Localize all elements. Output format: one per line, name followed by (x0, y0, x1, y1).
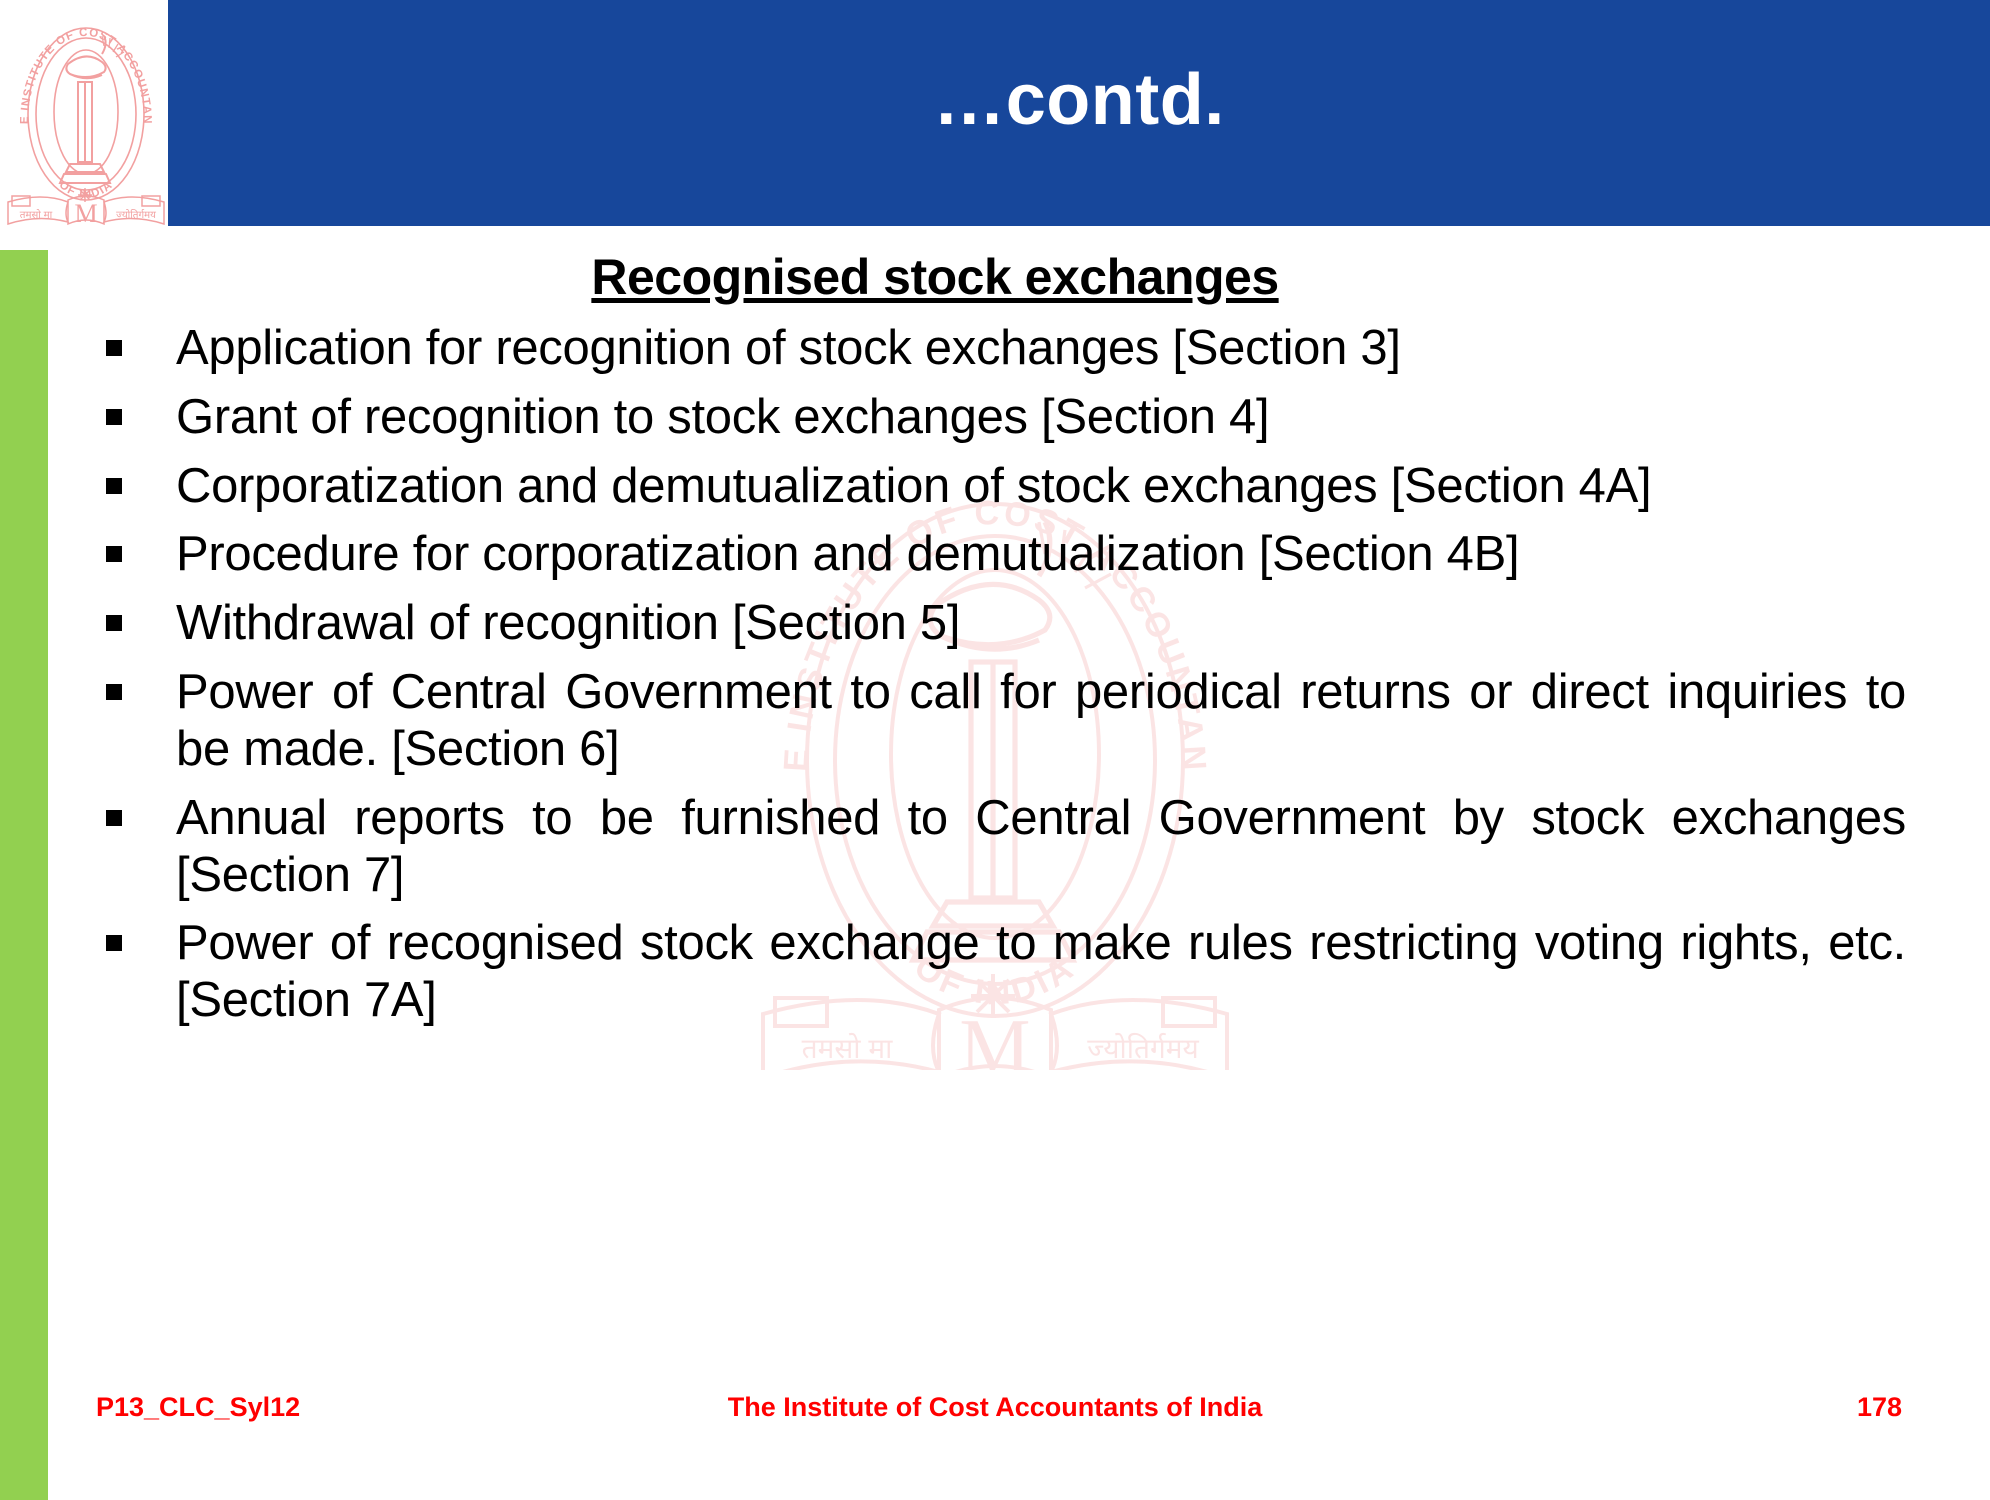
bullet-item: Corporatization and demutualization of s… (70, 458, 1920, 515)
bullet-text: Grant of recognition to stock exchanges … (176, 390, 1269, 444)
square-bullet-icon (106, 409, 122, 425)
square-bullet-icon (106, 546, 122, 562)
square-bullet-icon (106, 810, 122, 826)
bullet-item: Power of Central Government to call for … (70, 664, 1920, 778)
bullet-text: Power of recognised stock exchange to ma… (176, 916, 1906, 1027)
slide-body: Recognised stock exchanges Application f… (70, 248, 1920, 1041)
square-bullet-icon (106, 478, 122, 494)
bullet-text: Application for recognition of stock exc… (176, 321, 1401, 375)
square-bullet-icon (106, 935, 122, 951)
bullet-text: Procedure for corporatization and demutu… (176, 527, 1519, 581)
svg-text:ज्योतिर्गमय: ज्योतिर्गमय (116, 209, 156, 221)
presentation-slide: …contd. THE INSTITUTE OF COST ACCOUNTANT… (0, 0, 1990, 1500)
bullet-list: Application for recognition of stock exc… (70, 320, 1920, 1029)
bullet-item: Withdrawal of recognition [Section 5] (70, 595, 1920, 652)
bullet-item: Annual reports to be furnished to Centra… (70, 790, 1920, 904)
bullet-item: Application for recognition of stock exc… (70, 320, 1920, 377)
bullet-text: Withdrawal of recognition [Section 5] (176, 596, 960, 650)
bullet-text: Corporatization and demutualization of s… (176, 459, 1651, 513)
institute-logo: THE INSTITUTE OF COST ACCOUNTANTS OF IND… (6, 2, 166, 228)
left-accent-strip (0, 250, 48, 1500)
square-bullet-icon (106, 684, 122, 700)
bullet-item: Grant of recognition to stock exchanges … (70, 389, 1920, 446)
bullet-item: Procedure for corporatization and demutu… (70, 526, 1920, 583)
section-heading: Recognised stock exchanges (70, 248, 1920, 306)
svg-text:M: M (74, 199, 97, 228)
square-bullet-icon (106, 615, 122, 631)
bullet-text: Power of Central Government to call for … (176, 665, 1906, 776)
slide-footer: P13_CLC_Syl12 The Institute of Cost Acco… (0, 1392, 1990, 1452)
footer-organisation: The Institute of Cost Accountants of Ind… (0, 1392, 1990, 1423)
slide-title: …contd. (168, 0, 1990, 226)
svg-text:THE INSTITUTE OF COST ACCOUNTA: THE INSTITUTE OF COST ACCOUNTANTS (6, 2, 153, 125)
bullet-text: Annual reports to be furnished to Centra… (176, 791, 1906, 902)
svg-text:तमसो मा: तमसो मा (20, 209, 53, 221)
footer-page-number: 178 (1857, 1392, 1902, 1423)
square-bullet-icon (106, 340, 122, 356)
bullet-item: Power of recognised stock exchange to ma… (70, 915, 1920, 1029)
